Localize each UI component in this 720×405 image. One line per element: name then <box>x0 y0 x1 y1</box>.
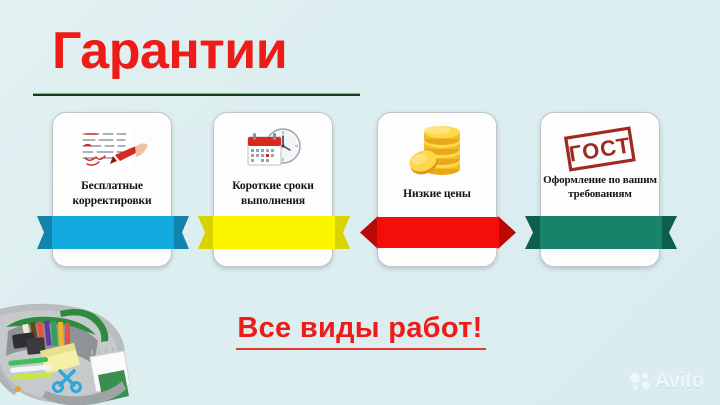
avito-wordmark: Avito <box>655 369 704 393</box>
guarantee-card-low-prices[interactable]: Низкие цены <box>377 112 497 267</box>
guarantee-card-free-corrections[interactable]: Бесплатные корректировки <box>52 112 172 267</box>
card-label: Низкие цены <box>380 187 494 202</box>
guarantee-card-row: Бесплатные корректировки <box>0 112 720 280</box>
gold-coins-icon <box>378 121 496 179</box>
card-label: Оформление по вашим требованиям <box>543 173 657 201</box>
card-label: Короткие сроки выполнения <box>216 179 330 209</box>
avito-logo-icon <box>629 371 651 391</box>
title-divider <box>33 93 360 96</box>
card-label: Бесплатные корректировки <box>55 179 169 209</box>
guarantee-card-short-deadlines[interactable]: Короткие сроки выполнения <box>213 112 333 267</box>
ribbon-banner-cyan <box>37 216 189 249</box>
ribbon-banner-red <box>360 216 516 249</box>
slide-canvas: Гарантии <box>0 0 720 405</box>
ribbon-banner-yellow <box>198 216 350 249</box>
page-title: Гарантии <box>52 22 287 80</box>
backpack-illustration <box>0 283 164 405</box>
handwritten-corrections-icon <box>53 121 171 179</box>
guarantee-card-gost-formatting[interactable]: ГОСТ Оформление по вашим требованиям <box>540 112 660 267</box>
ribbon-banner-green <box>525 216 677 249</box>
gost-stamp-icon: ГОСТ <box>541 121 659 179</box>
avito-watermark: Avito <box>629 369 704 393</box>
footer-underline <box>236 348 486 350</box>
calendar-clock-icon <box>214 121 332 179</box>
